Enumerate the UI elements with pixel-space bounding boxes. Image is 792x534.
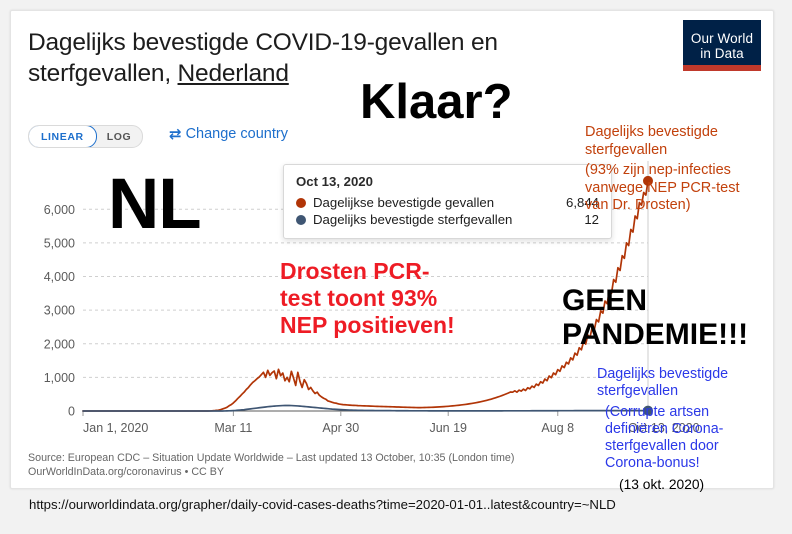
screenshot-root: Dagelijks bevestigde COVID-19-gevallen e… bbox=[0, 0, 792, 534]
scale-toggle[interactable]: LINEAR LOG bbox=[28, 125, 143, 148]
scale-linear-button[interactable]: LINEAR bbox=[28, 125, 97, 148]
series-color-dot-icon bbox=[296, 215, 306, 225]
page-title: Dagelijks bevestigde COVID-19-gevallen e… bbox=[28, 27, 628, 90]
title-line-1: Dagelijks bevestigde COVID-19-gevallen e… bbox=[28, 29, 498, 56]
source-line-1: Source: European CDC – Situation Update … bbox=[28, 451, 514, 465]
our-world-in-data-logo: Our World in Data bbox=[683, 20, 761, 71]
annotation-klaar: Klaar? bbox=[360, 78, 513, 127]
y-axis-tick-label: 1,000 bbox=[44, 371, 75, 385]
series-color-dot-icon bbox=[296, 198, 306, 208]
tooltip-date: Oct 13, 2020 bbox=[296, 174, 599, 189]
x-axis-tick-label: Mar 11 bbox=[214, 421, 252, 435]
tooltip-rows: Dagelijkse bevestigde gevallen6,844Dagel… bbox=[296, 195, 599, 227]
tooltip-series-label: Dagelijkse bevestigde gevallen bbox=[313, 195, 556, 210]
annotation-orange-note: (93% zijn nep-infecties vanwege NEP PCR-… bbox=[585, 162, 739, 215]
y-axis-tick-label: 5,000 bbox=[44, 236, 75, 250]
logo-red-bar bbox=[683, 65, 761, 71]
title-line-2-prefix: sterfgevallen, bbox=[28, 60, 178, 87]
annotation-date-note: (13 okt. 2020) bbox=[619, 477, 704, 494]
annotation-nl: NL bbox=[108, 172, 201, 237]
logo-line-1: Our World bbox=[691, 31, 753, 46]
y-axis-tick-label: 2,000 bbox=[44, 337, 75, 351]
scale-log-button[interactable]: LOG bbox=[96, 126, 143, 147]
annotation-blue-note: (Corrupte artsen definiëren Corona- ster… bbox=[605, 404, 723, 473]
x-axis-tick-label: Apr 30 bbox=[322, 421, 359, 435]
annotation-blue-label: Dagelijks bevestigde sterfgevallen bbox=[597, 366, 728, 400]
tooltip-row: Dagelijkse bevestigde gevallen6,844 bbox=[296, 195, 599, 210]
y-axis-tick-label: 4,000 bbox=[44, 270, 75, 284]
chart-tooltip: Oct 13, 2020 Dagelijkse bevestigde geval… bbox=[283, 164, 612, 239]
chart-source: Source: European CDC – Situation Update … bbox=[28, 451, 514, 480]
url-text: https://ourworldindata.org/grapher/daily… bbox=[29, 497, 616, 512]
x-axis-tick-label: Jan 1, 2020 bbox=[83, 421, 148, 435]
y-axis-tick-label: 3,000 bbox=[44, 304, 75, 318]
change-country-button[interactable]: ⇄ Change country bbox=[169, 126, 288, 142]
annotation-geen-pandemie: GEEN PANDEMIE!!! bbox=[562, 284, 748, 351]
annotation-drosten-pcr: Drosten PCR- test toont 93% NEP positiev… bbox=[280, 258, 455, 339]
logo-line-2: in Data bbox=[700, 46, 743, 61]
tooltip-row: Dagelijks bevestigde sterfgevallen12 bbox=[296, 212, 599, 227]
change-country-label: Change country bbox=[186, 126, 288, 142]
x-axis-tick-label: Aug 8 bbox=[541, 421, 574, 435]
y-axis-tick-label: 6,000 bbox=[44, 203, 75, 217]
tooltip-series-label: Dagelijks bevestigde sterfgevallen bbox=[313, 212, 574, 227]
source-line-2: OurWorldInData.org/coronavirus • CC BY bbox=[28, 465, 514, 479]
x-axis-tick-label: Jun 19 bbox=[429, 421, 467, 435]
swap-arrows-icon: ⇄ bbox=[169, 127, 182, 142]
y-axis-tick-label: 0 bbox=[68, 405, 75, 419]
annotation-orange-label: Dagelijks bevestigde sterfgevallen bbox=[585, 124, 718, 159]
title-country: Nederland bbox=[178, 60, 289, 87]
